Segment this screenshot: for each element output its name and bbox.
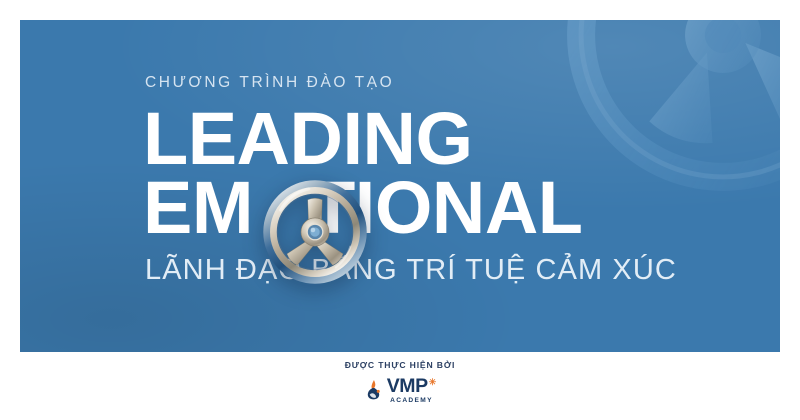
headline-line-1: LEADING (143, 104, 703, 173)
vmp-academy-subword: ACADEMY (387, 398, 437, 405)
vmp-academy-logo: VMP ✳ ACADEMY (364, 377, 437, 405)
page-title: LEADING EMOTIONAL (143, 104, 703, 242)
vmp-flame-mark-icon (364, 379, 383, 401)
footer: ĐƯỢC THỰC HIỆN BỞI VMP ✳ ACADEMY (0, 352, 800, 420)
footer-label: ĐƯỢC THỰC HIỆN BỞI (345, 361, 456, 370)
subtitle-text: LÃNH ĐẠO BẰNG TRÍ TUỆ CẢM XÚC (145, 256, 703, 285)
poster-canvas: CHƯƠNG TRÌNH ĐÀO TẠO LEADING EMOTIONAL L… (0, 0, 800, 420)
headline-line-2-before: EM (143, 166, 253, 249)
vmp-wordmark: VMP (387, 377, 428, 397)
vmp-asterisk-icon: ✳ (429, 378, 437, 387)
vmp-word-row: VMP ✳ (387, 377, 437, 397)
eyebrow-text: CHƯƠNG TRÌNH ĐÀO TẠO (145, 75, 703, 91)
headline-line-2: EMOTIONAL (143, 173, 703, 242)
steering-wheel-icon (263, 180, 367, 284)
hero-copy: CHƯƠNG TRÌNH ĐÀO TẠO LEADING EMOTIONAL L… (143, 75, 703, 285)
vmp-logo-type: VMP ✳ ACADEMY (387, 377, 437, 405)
hero-panel: CHƯƠNG TRÌNH ĐÀO TẠO LEADING EMOTIONAL L… (20, 20, 780, 352)
